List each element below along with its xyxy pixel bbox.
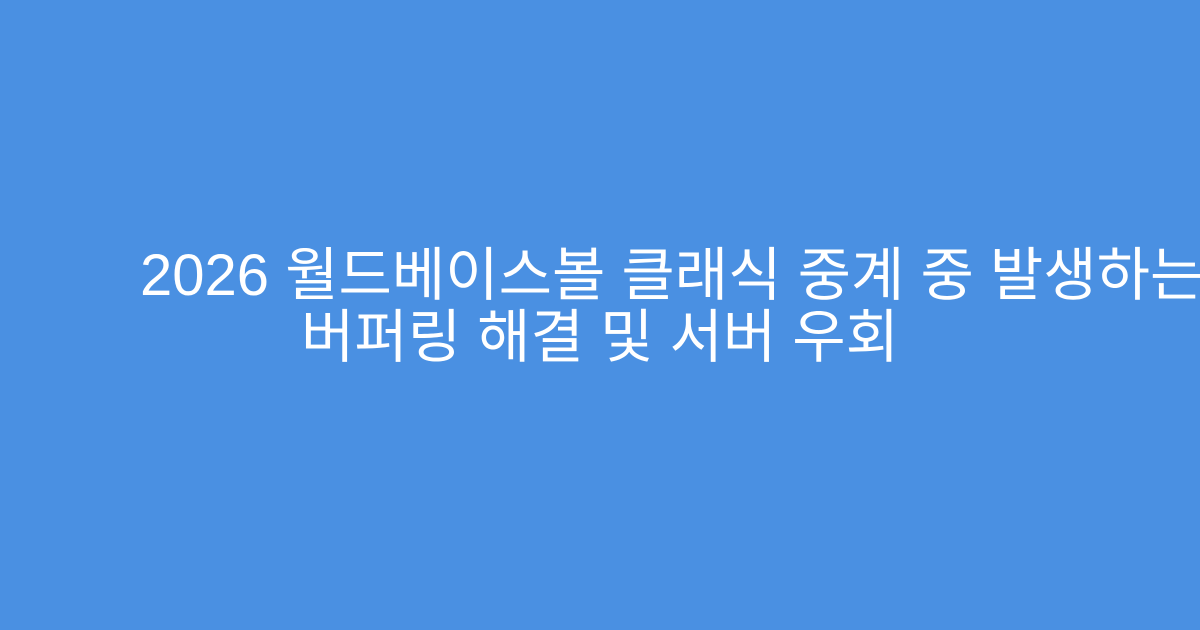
page-title-line-1: 2026 월드베이스볼 클래식 중계 중 발생하는 [140,245,1060,307]
og-card: 2026 월드베이스볼 클래식 중계 중 발생하는 버퍼링 해결 및 서버 우회 [0,0,1200,630]
page-title: 2026 월드베이스볼 클래식 중계 중 발생하는 버퍼링 해결 및 서버 우회 [100,245,1100,369]
page-title-line-2: 버퍼링 해결 및 서버 우회 [140,307,1060,369]
